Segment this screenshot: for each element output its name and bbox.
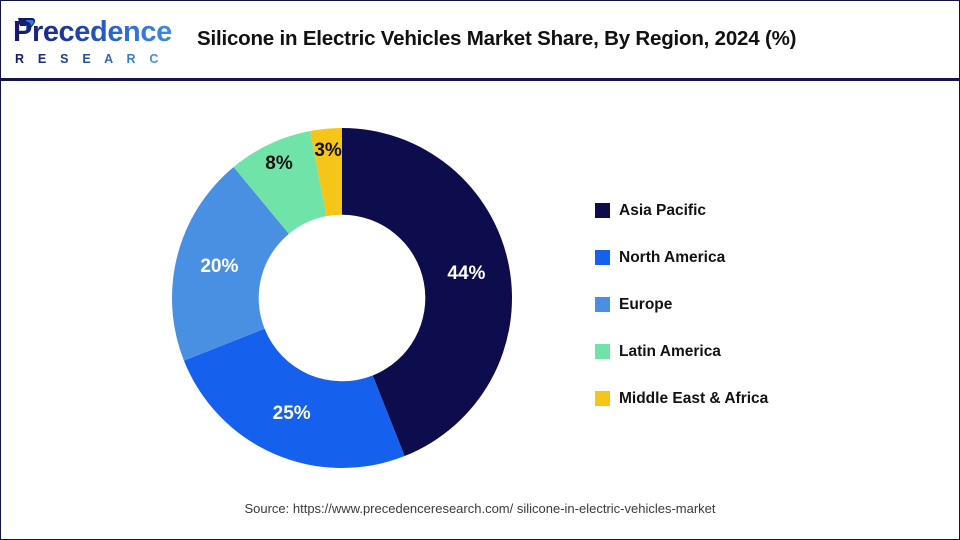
- logo-wordmark: Precedence: [13, 15, 173, 49]
- legend-item-label: Latin America: [619, 343, 721, 361]
- donut-chart-svg: [171, 127, 513, 469]
- legend-item[interactable]: Asia Pacific: [595, 187, 925, 234]
- legend-swatch-icon: [595, 344, 610, 359]
- legend-item-label: Middle East & Africa: [619, 390, 768, 408]
- legend-swatch-icon: [595, 297, 610, 312]
- legend-item[interactable]: North America: [595, 234, 925, 281]
- page-title: Silicone in Electric Vehicles Market Sha…: [197, 27, 937, 51]
- legend: Asia PacificNorth AmericaEuropeLatin Ame…: [595, 187, 925, 422]
- logo-subtext: R E S E A R C H: [15, 51, 173, 67]
- donut-chart: 44%25%20%8%3%: [171, 127, 513, 469]
- legend-item-label: Europe: [619, 296, 672, 314]
- legend-swatch-icon: [595, 391, 610, 406]
- legend-item[interactable]: Latin America: [595, 328, 925, 375]
- chart-page: Precedence R E S E A R C H Silicone in E…: [0, 0, 960, 540]
- donut-slice[interactable]: [184, 329, 405, 468]
- donut-slice-group: [172, 128, 512, 468]
- legend-item[interactable]: Middle East & Africa: [595, 375, 925, 422]
- legend-item-label: Asia Pacific: [619, 202, 706, 220]
- legend-item[interactable]: Europe: [595, 281, 925, 328]
- legend-swatch-icon: [595, 203, 610, 218]
- source-note: Source: https://www.precedenceresearch.c…: [1, 501, 959, 516]
- precedence-research-logo: Precedence R E S E A R C H: [13, 15, 173, 69]
- legend-item-label: North America: [619, 249, 725, 267]
- legend-swatch-icon: [595, 250, 610, 265]
- header-bar: Precedence R E S E A R C H Silicone in E…: [1, 1, 959, 81]
